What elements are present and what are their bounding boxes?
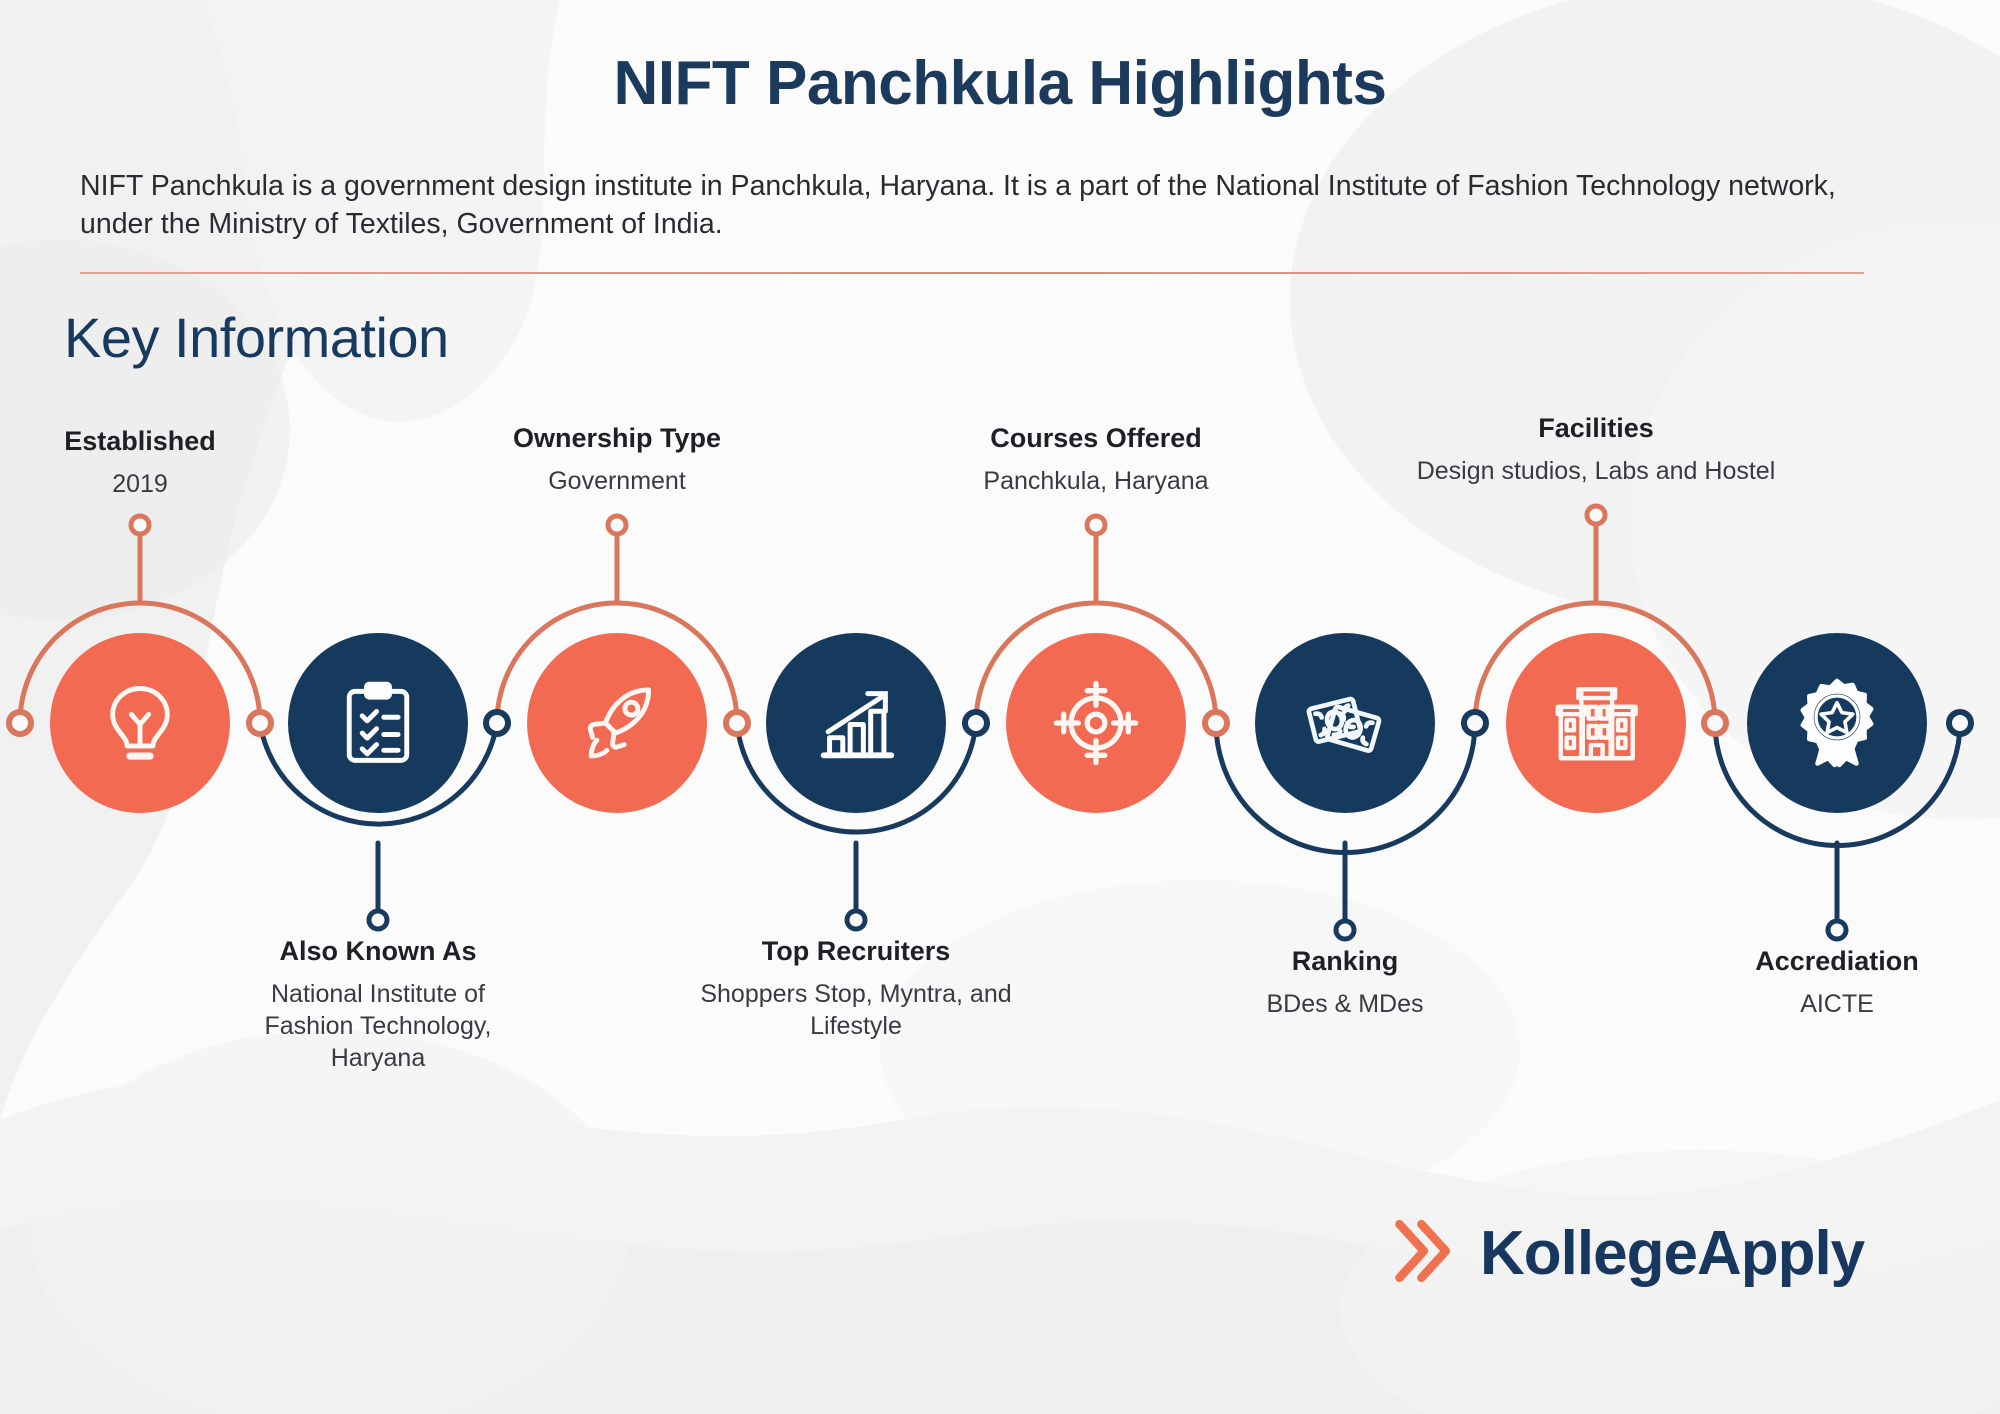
intro-paragraph: NIFT Panchkula is a government design in… xyxy=(80,168,1860,243)
clipboard-checklist-icon xyxy=(332,677,424,769)
label-value: Panchkula, Haryana xyxy=(946,465,1246,497)
label-value: Shoppers Stop, Myntra, and Lifestyle xyxy=(686,978,1026,1042)
header-divider xyxy=(80,272,1864,274)
building-icon xyxy=(1549,676,1643,770)
label-courses-offered: Courses Offered Panchkula, Haryana xyxy=(946,422,1246,497)
label-established: Established 2019 xyxy=(0,425,290,500)
node-ownership-type[interactable] xyxy=(527,633,707,813)
label-key: Also Known As xyxy=(228,935,528,968)
growth-bar-chart-icon xyxy=(809,676,903,770)
lightbulb-icon xyxy=(94,677,186,769)
label-key: Facilities xyxy=(1386,412,1806,445)
label-value: Design studios, Labs and Hostel xyxy=(1386,455,1806,487)
page-title: NIFT Panchkula Highlights xyxy=(0,48,2000,119)
label-value: AICTE xyxy=(1687,988,1987,1020)
label-key: Top Recruiters xyxy=(686,935,1026,968)
money-banknotes-icon xyxy=(1298,676,1392,770)
label-value: Government xyxy=(467,465,767,497)
label-value: 2019 xyxy=(0,468,290,500)
label-key: Ranking xyxy=(1195,945,1495,978)
label-key: Courses Offered xyxy=(946,422,1246,455)
label-accrediation: Accrediation AICTE xyxy=(1687,945,1987,1020)
node-courses-offered[interactable] xyxy=(1006,633,1186,813)
label-facilities: Facilities Design studios, Labs and Host… xyxy=(1386,412,1806,487)
label-key: Accrediation xyxy=(1687,945,1987,978)
label-ownership-type: Ownership Type Government xyxy=(467,422,767,497)
node-accrediation[interactable] xyxy=(1747,633,1927,813)
rocket-icon xyxy=(571,677,663,769)
double-chevron-icon xyxy=(1380,1212,1458,1295)
node-top-recruiters[interactable] xyxy=(766,633,946,813)
label-value: BDes & MDes xyxy=(1195,988,1495,1020)
label-also-known-as: Also Known As National Institute of Fash… xyxy=(228,935,528,1074)
node-established[interactable] xyxy=(50,633,230,813)
award-badge-icon xyxy=(1789,675,1885,771)
label-value: National Institute of Fashion Technology… xyxy=(228,978,528,1074)
label-ranking: Ranking BDes & MDes xyxy=(1195,945,1495,1020)
brand-wordmark: KollegeApply xyxy=(1480,1218,1864,1289)
target-crosshair-icon xyxy=(1049,676,1143,770)
infographic-page: NIFT Panchkula Highlights NIFT Panchkula… xyxy=(0,0,2000,1414)
label-key: Established xyxy=(0,425,290,458)
brand-logo[interactable]: KollegeApply xyxy=(1380,1212,1864,1295)
node-facilities[interactable] xyxy=(1506,633,1686,813)
section-title: Key Information xyxy=(64,305,449,370)
node-ranking[interactable] xyxy=(1255,633,1435,813)
node-also-known-as[interactable] xyxy=(288,633,468,813)
label-key: Ownership Type xyxy=(467,422,767,455)
label-top-recruiters: Top Recruiters Shoppers Stop, Myntra, an… xyxy=(686,935,1026,1042)
